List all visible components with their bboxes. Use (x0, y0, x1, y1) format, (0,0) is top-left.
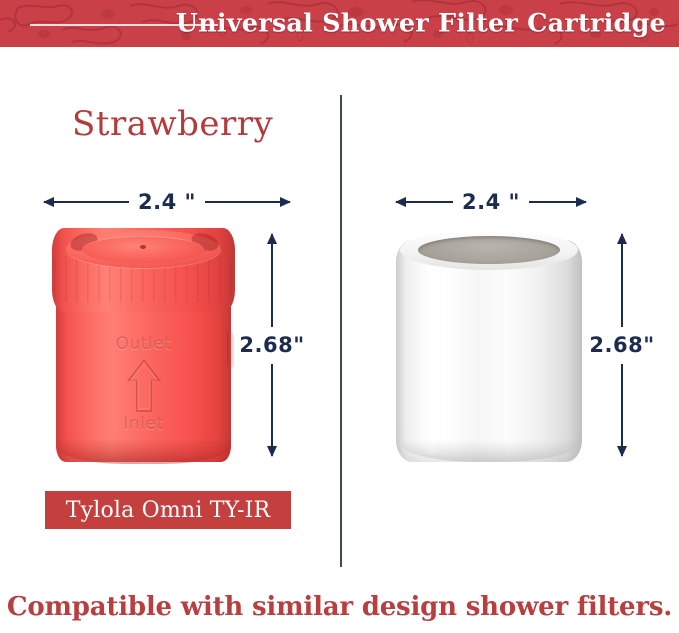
emboss-outlet-label: Outlet (52, 334, 235, 354)
arrow-left-icon (44, 201, 129, 203)
right-width-dimension: 2.4 " (396, 187, 586, 217)
right-height-dimension: 2.68" (591, 234, 653, 456)
arrow-left-icon (396, 201, 453, 203)
arrow-right-icon (205, 201, 290, 203)
flavor-title: Strawberry (72, 104, 273, 144)
panel-divider (340, 95, 342, 567)
left-width-label: 2.4 " (129, 192, 205, 213)
white-filter-cartridge (396, 230, 582, 462)
arrow-up-icon (271, 234, 273, 327)
model-badge-label: Tylola Omni TY-IR (66, 498, 271, 523)
footer-note: Compatible with similar design shower fi… (0, 592, 679, 622)
right-width-label: 2.4 " (453, 192, 529, 213)
red-cap-center-dot (140, 245, 146, 249)
left-height-label: 2.68" (239, 327, 304, 364)
arrow-right-icon (529, 201, 586, 203)
left-height-dimension: 2.68" (241, 234, 303, 456)
arrow-up-icon (621, 234, 623, 327)
page-title: Universal Shower Filter Cartridge (176, 8, 666, 38)
red-cartridge-cap (52, 228, 235, 312)
white-cartridge-opening (418, 236, 560, 264)
white-cartridge-highlight (424, 258, 440, 454)
emboss-inlet-label: Inlet (52, 414, 235, 434)
red-cap-center-disc (82, 236, 204, 263)
model-badge: Tylola Omni TY-IR (45, 491, 291, 529)
arrow-down-icon (271, 364, 273, 457)
arrow-down-icon (621, 364, 623, 457)
header-banner: Universal Shower Filter Cartridge (0, 0, 679, 47)
left-width-dimension: 2.4 " (44, 187, 290, 217)
right-height-label: 2.68" (589, 327, 654, 364)
red-filter-cartridge: Outlet Inlet (52, 228, 235, 464)
emboss-up-arrow-icon (124, 358, 164, 414)
